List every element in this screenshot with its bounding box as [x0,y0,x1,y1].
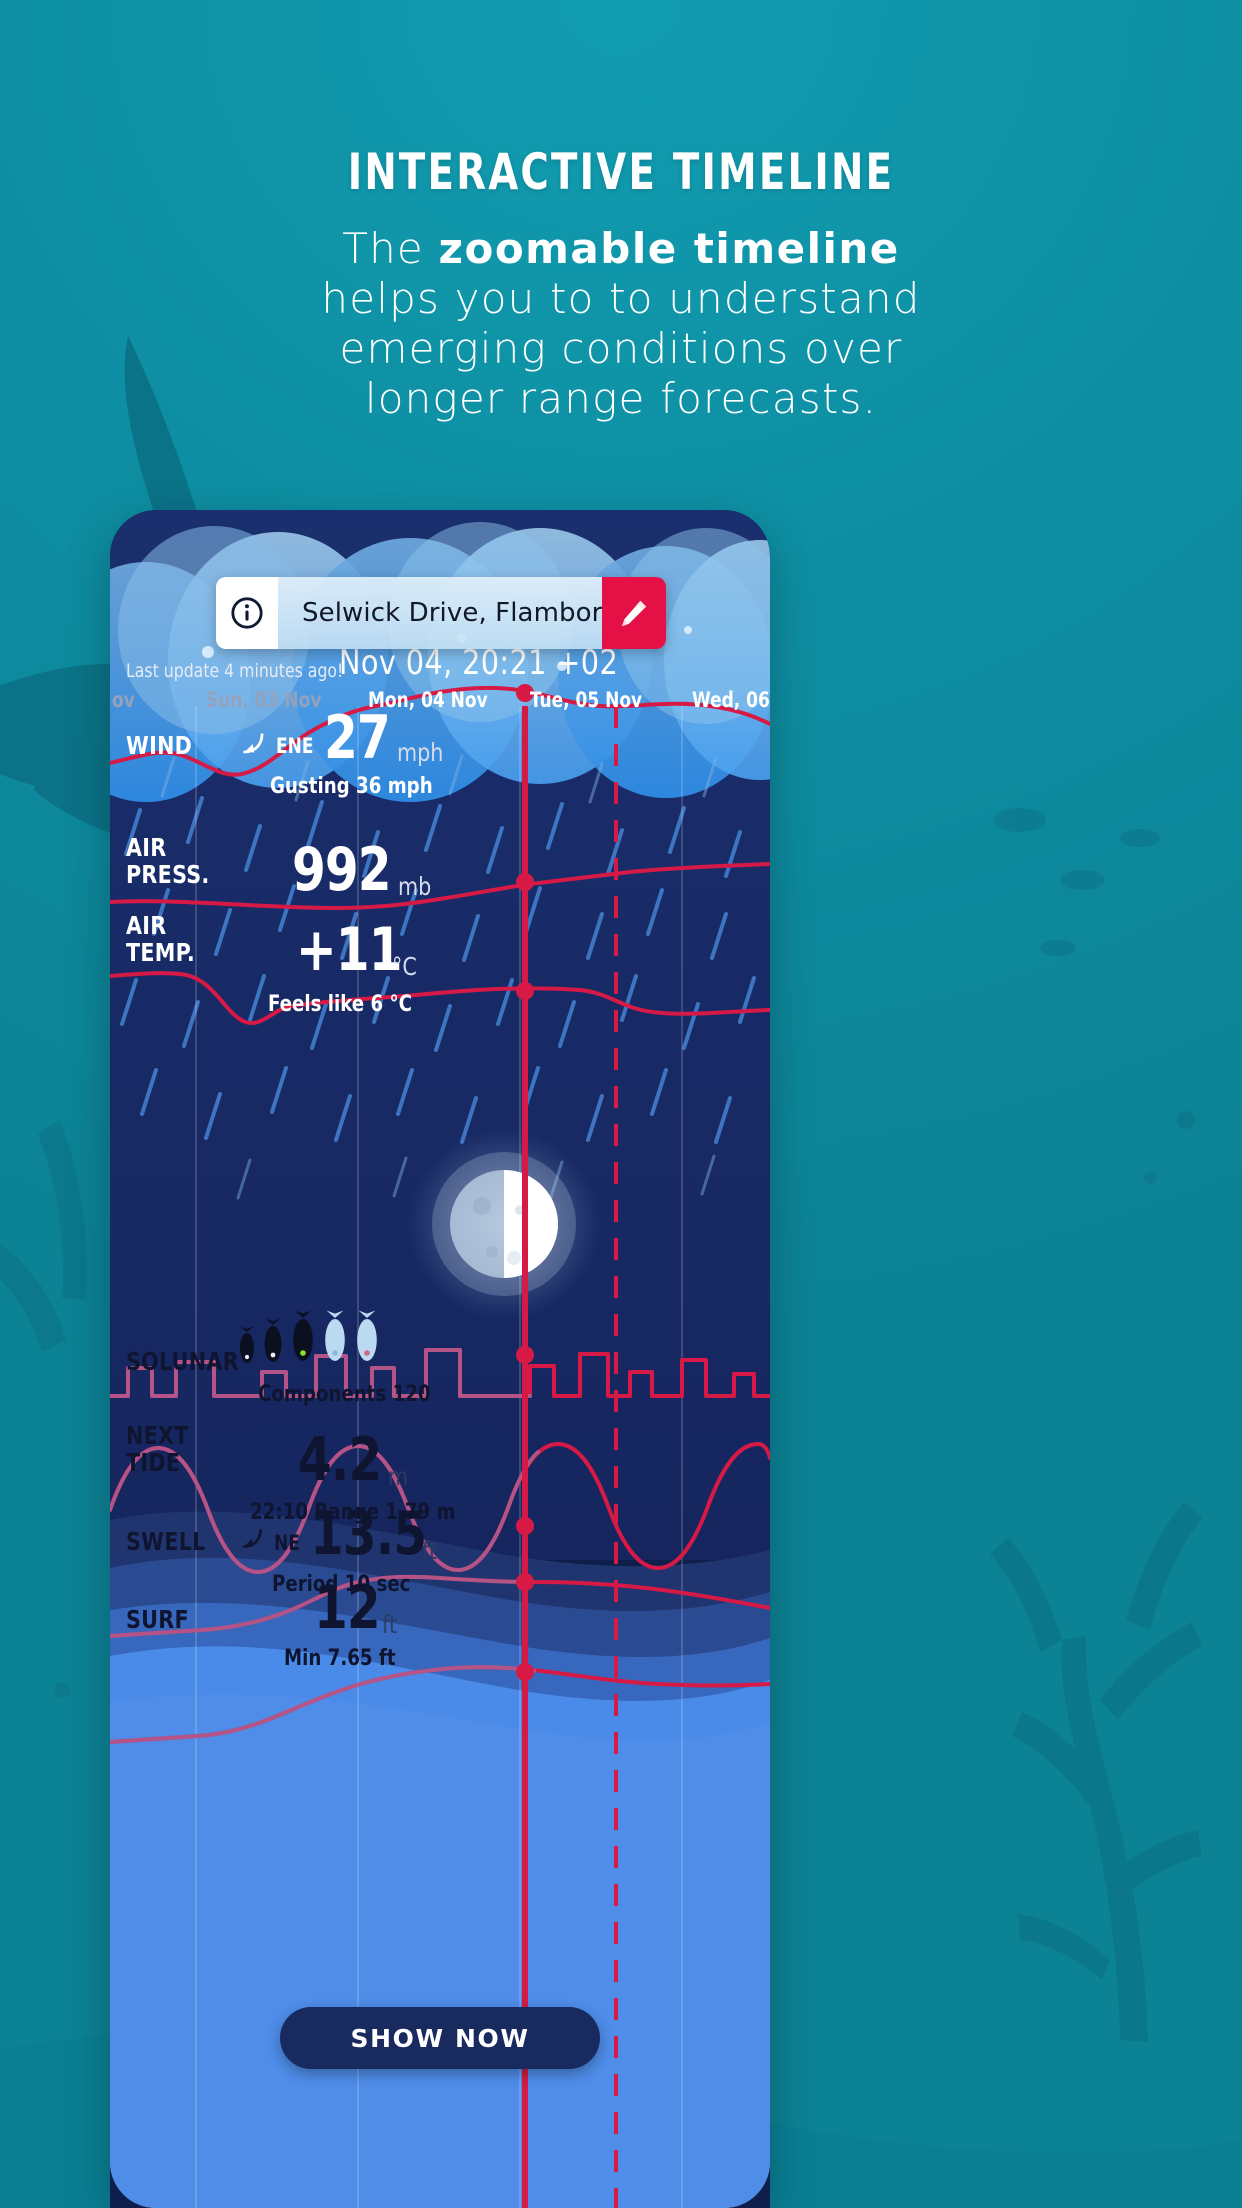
promo-body: The zoomable timeline helps you to to un… [0,228,1242,428]
promo-body-line-1-plain: The [342,224,438,273]
day-label-3[interactable]: Tue, 05 Nov [530,688,642,712]
row-air-temperature-unit: °C [392,952,417,981]
promo-body-line-4: longer range forecasts. [0,378,1242,420]
info-circle-icon [230,596,264,630]
fish-school-decoration [994,808,1160,956]
fish-icon-empty-2 [352,1310,382,1370]
row-wind-sub: Gusting 36 mph [270,774,433,799]
row-swell-value: 13.5 [310,1504,426,1564]
row-surf-sub: Min 7.65 ft [284,1646,396,1671]
row-solunar-sub: Components 120 [258,1382,431,1407]
page-title: INTERACTIVE TIMELINE [87,143,1155,201]
app-screen: Selwick Drive, Flambor... Last update 4 … [110,510,770,2208]
day-label-1[interactable]: Sun, 03 Nov [206,688,321,712]
promo-body-line-3: emerging conditions over [0,328,1242,370]
current-timestamp: Nov 04, 20:21 +02 [339,643,618,683]
row-surf-value: 12 [314,1578,380,1638]
seaweed-left-icon [0,1120,87,1352]
promo-body-line-1-bold: zoomable timeline [439,224,900,273]
row-wind-direction: ENE [276,734,313,758]
row-air-temperature-label: AIR TEMP. [126,912,195,966]
row-air-temperature-value: +11 [296,920,402,980]
row-swell-unit: ft [422,1536,437,1565]
swell-graph-line [110,1577,770,1636]
row-air-pressure-label: AIR PRESS. [126,834,210,888]
wind-direction-arrow-icon [238,728,270,760]
promo-body-line-1: The zoomable timeline [0,228,1242,270]
row-wind-label: WIND [126,732,192,759]
temperature-graph-line [110,973,770,1023]
surf-graph-line [110,1667,770,1742]
row-air-pressure-unit: mb [398,872,431,901]
row-air-pressure-value: 992 [292,840,391,900]
fish-icon-filled-3 [288,1310,318,1370]
row-air-temperature-sub: Feels like 6 °C [268,992,412,1017]
day-label-4[interactable]: Wed, 06 No [692,688,770,712]
fish-icon-filled-1 [236,1326,258,1370]
row-next-tide-unit: m [388,1462,408,1491]
row-swell-label: SWELL [126,1528,206,1555]
swell-direction-arrow-icon [238,1524,268,1554]
location-bar[interactable]: Selwick Drive, Flambor... [216,577,666,649]
day-label-0[interactable]: ov [112,688,135,712]
info-button[interactable] [216,577,278,649]
row-wind-value: 27 [324,708,390,768]
row-wind-unit: mph [397,738,443,767]
edit-location-button[interactable] [602,577,666,649]
row-solunar-label: SOLUNAR [126,1348,239,1375]
location-input[interactable]: Selwick Drive, Flambor... [278,577,602,649]
phone-mockup: Selwick Drive, Flambor... Last update 4 … [110,510,770,2208]
solunar-fish-rating [236,1310,382,1370]
day-axis[interactable]: ov Sun, 03 Nov Mon, 04 Nov Tue, 05 Nov W… [110,688,770,718]
promo-body-line-2: helps you to to understand [0,278,1242,320]
last-update-text: Last update 4 minutes ago! [126,660,343,682]
pencil-icon [618,597,650,629]
row-surf-unit: ft [382,1610,397,1639]
row-next-tide-label: NEXT TIDE [126,1422,189,1476]
coral-silhouette-icon [990,1502,1202,2042]
row-swell-direction: NE [274,1531,300,1555]
row-surf-label: SURF [126,1606,189,1633]
row-next-tide-value: 4.2 [298,1430,381,1490]
fish-icon-empty-1 [320,1310,350,1370]
fish-icon-filled-2 [260,1318,286,1370]
show-now-button[interactable]: SHOW NOW [280,2007,600,2069]
